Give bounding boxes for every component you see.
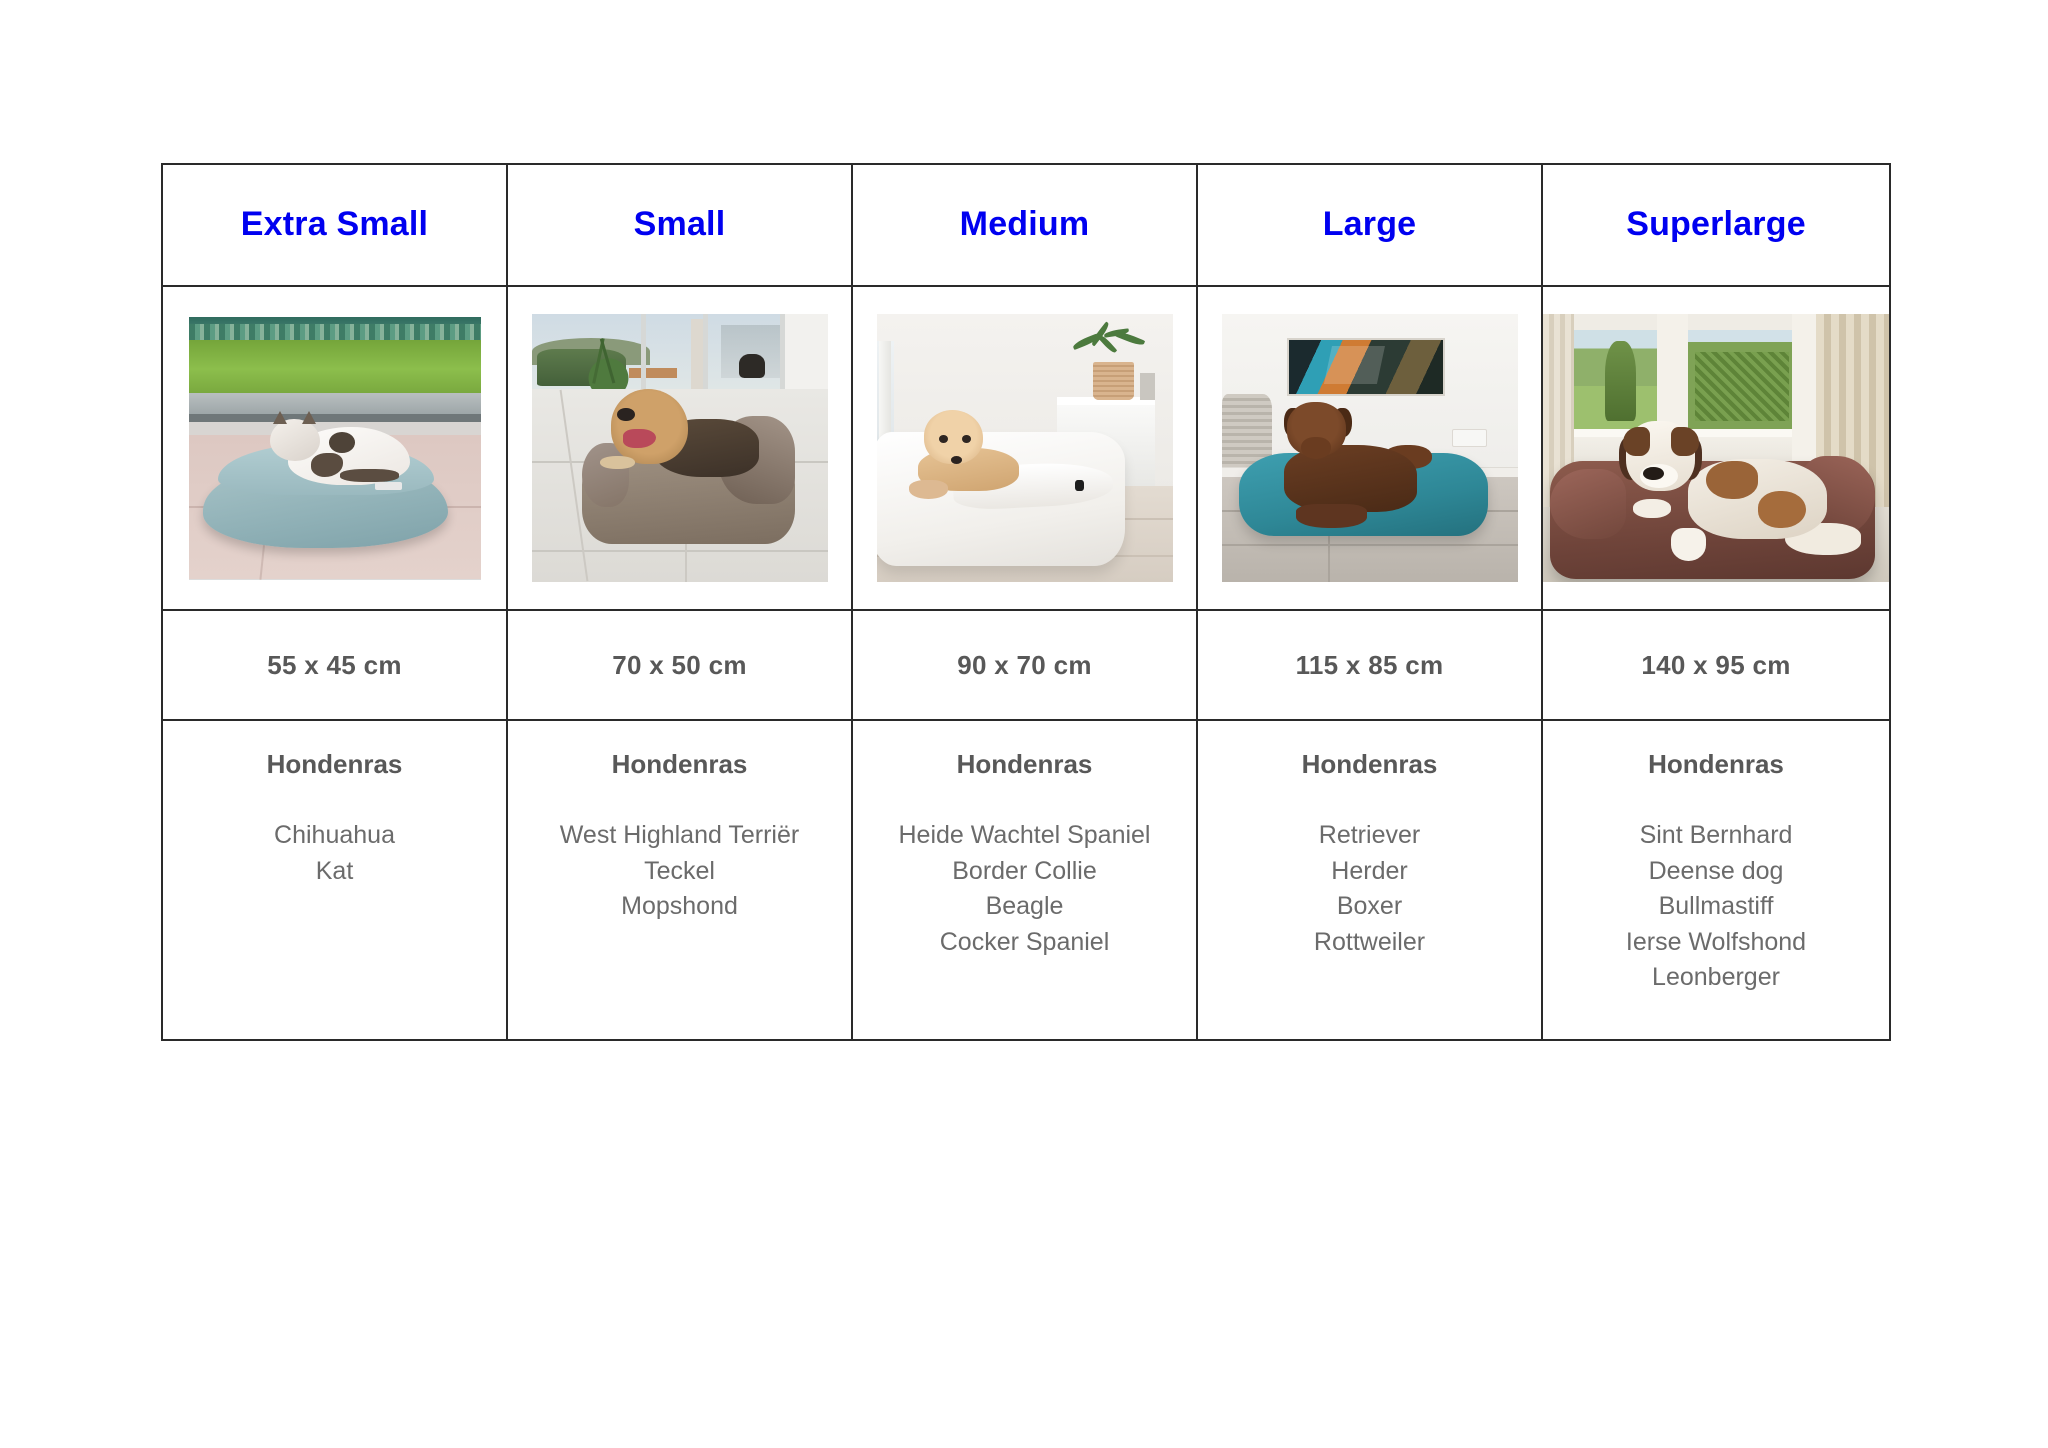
list-item: Herder [1198, 854, 1541, 890]
breed-section-title: Hondenras [1198, 749, 1541, 780]
size-cell-large: 115 x 85 cm [1197, 610, 1542, 720]
bed-dimensions: 70 x 50 cm [508, 650, 851, 681]
list-item: Deense dog [1543, 854, 1889, 890]
photo-cell-medium [852, 286, 1197, 610]
list-item: Mopshond [508, 889, 851, 925]
header-cell-small: Small [507, 164, 852, 286]
photo-wrapper [163, 287, 506, 609]
size-cell-medium: 90 x 70 cm [852, 610, 1197, 720]
breed-section-title: Hondenras [1543, 749, 1889, 780]
size-header-label: Medium [853, 206, 1196, 243]
size-cell-extra-small: 55 x 45 cm [162, 610, 507, 720]
photo-cell-extra-small [162, 286, 507, 610]
table-size-row: 55 x 45 cm 70 x 50 cm 90 x 70 cm 115 x 8… [162, 610, 1890, 720]
breed-list: Sint Bernhard Deense dog Bullmastiff Ier… [1543, 818, 1889, 996]
breeds-cell-medium: Hondenras Heide Wachtel Spaniel Border C… [852, 720, 1197, 1040]
breeds-cell-large: Hondenras Retriever Herder Boxer Rottwei… [1197, 720, 1542, 1040]
breeds-cell-small: Hondenras West Highland Terriër Teckel M… [507, 720, 852, 1040]
list-item: Bullmastiff [1543, 889, 1889, 925]
product-photo-superlarge [1543, 314, 1889, 582]
header-cell-medium: Medium [852, 164, 1197, 286]
breeds-cell-superlarge: Hondenras Sint Bernhard Deense dog Bullm… [1542, 720, 1890, 1040]
dog-bed-size-table: Extra Small Small Medium Large Superlarg… [161, 163, 1891, 1041]
list-item: West Highland Terriër [508, 818, 851, 854]
document-page: Extra Small Small Medium Large Superlarg… [0, 0, 2048, 1448]
list-item: Ierse Wolfshond [1543, 925, 1889, 961]
list-item: Beagle [853, 889, 1196, 925]
list-item: Leonberger [1543, 960, 1889, 996]
photo-cell-small [507, 286, 852, 610]
size-header-label: Small [508, 206, 851, 243]
list-item: Retriever [1198, 818, 1541, 854]
size-cell-superlarge: 140 x 95 cm [1542, 610, 1890, 720]
breed-section-title: Hondenras [508, 749, 851, 780]
list-item: Border Collie [853, 854, 1196, 890]
list-item: Teckel [508, 854, 851, 890]
breed-section-title: Hondenras [853, 749, 1196, 780]
list-item: Cocker Spaniel [853, 925, 1196, 961]
photo-cell-superlarge [1542, 286, 1890, 610]
header-cell-large: Large [1197, 164, 1542, 286]
table-breeds-row: Hondenras Chihuahua Kat Hondenras West H… [162, 720, 1890, 1040]
size-header-label: Superlarge [1543, 206, 1889, 243]
list-item: Boxer [1198, 889, 1541, 925]
product-photo-small [532, 314, 828, 582]
bed-dimensions: 115 x 85 cm [1198, 650, 1541, 681]
size-cell-small: 70 x 50 cm [507, 610, 852, 720]
product-photo-medium [877, 314, 1173, 582]
breed-list: West Highland Terriër Teckel Mopshond [508, 818, 851, 925]
header-cell-superlarge: Superlarge [1542, 164, 1890, 286]
photo-wrapper [1543, 287, 1889, 609]
product-photo-large [1222, 314, 1518, 582]
header-cell-extra-small: Extra Small [162, 164, 507, 286]
list-item: Sint Bernhard [1543, 818, 1889, 854]
table-header-row: Extra Small Small Medium Large Superlarg… [162, 164, 1890, 286]
breed-section-title: Hondenras [163, 749, 506, 780]
photo-wrapper [508, 287, 851, 609]
size-header-label: Extra Small [163, 206, 506, 243]
product-photo-extra-small [189, 317, 481, 580]
list-item: Heide Wachtel Spaniel [853, 818, 1196, 854]
photo-cell-large [1197, 286, 1542, 610]
photo-wrapper [1198, 287, 1541, 609]
breed-list: Chihuahua Kat [163, 818, 506, 889]
list-item: Rottweiler [1198, 925, 1541, 961]
bed-dimensions: 140 x 95 cm [1543, 650, 1889, 681]
size-header-label: Large [1198, 206, 1541, 243]
breed-list: Heide Wachtel Spaniel Border Collie Beag… [853, 818, 1196, 960]
table-photo-row [162, 286, 1890, 610]
list-item: Chihuahua [163, 818, 506, 854]
breeds-cell-extra-small: Hondenras Chihuahua Kat [162, 720, 507, 1040]
photo-wrapper [853, 287, 1196, 609]
bed-dimensions: 55 x 45 cm [163, 650, 506, 681]
list-item: Kat [163, 854, 506, 890]
bed-dimensions: 90 x 70 cm [853, 650, 1196, 681]
breed-list: Retriever Herder Boxer Rottweiler [1198, 818, 1541, 960]
